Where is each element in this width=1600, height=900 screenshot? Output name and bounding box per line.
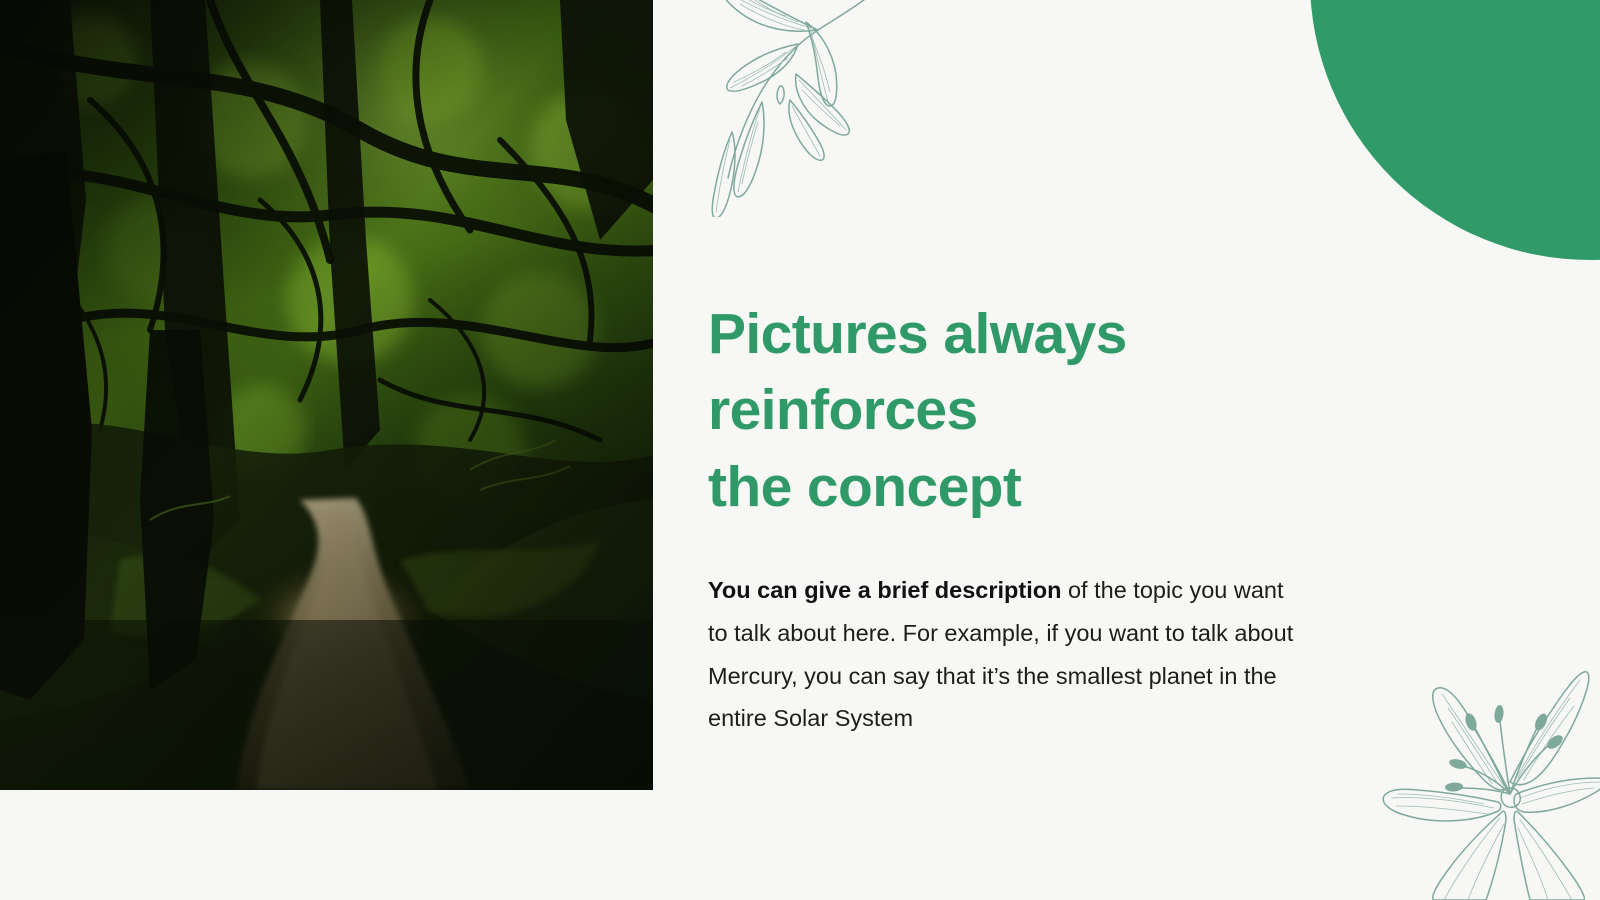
page-title: Pictures always reinforces the concept — [708, 296, 1308, 525]
green-circle-decoration — [1310, 0, 1600, 260]
text-column: Pictures always reinforces the concept Y… — [708, 296, 1308, 740]
body-description: You can give a brief description of the … — [708, 569, 1298, 740]
body-lead-text: You can give a brief description — [708, 577, 1061, 603]
lily-flower-line-art — [1338, 632, 1600, 900]
slide-canvas: Pictures always reinforces the concept Y… — [0, 0, 1600, 900]
leaf-branch-line-art — [700, 0, 890, 217]
forest-photo — [0, 0, 653, 790]
